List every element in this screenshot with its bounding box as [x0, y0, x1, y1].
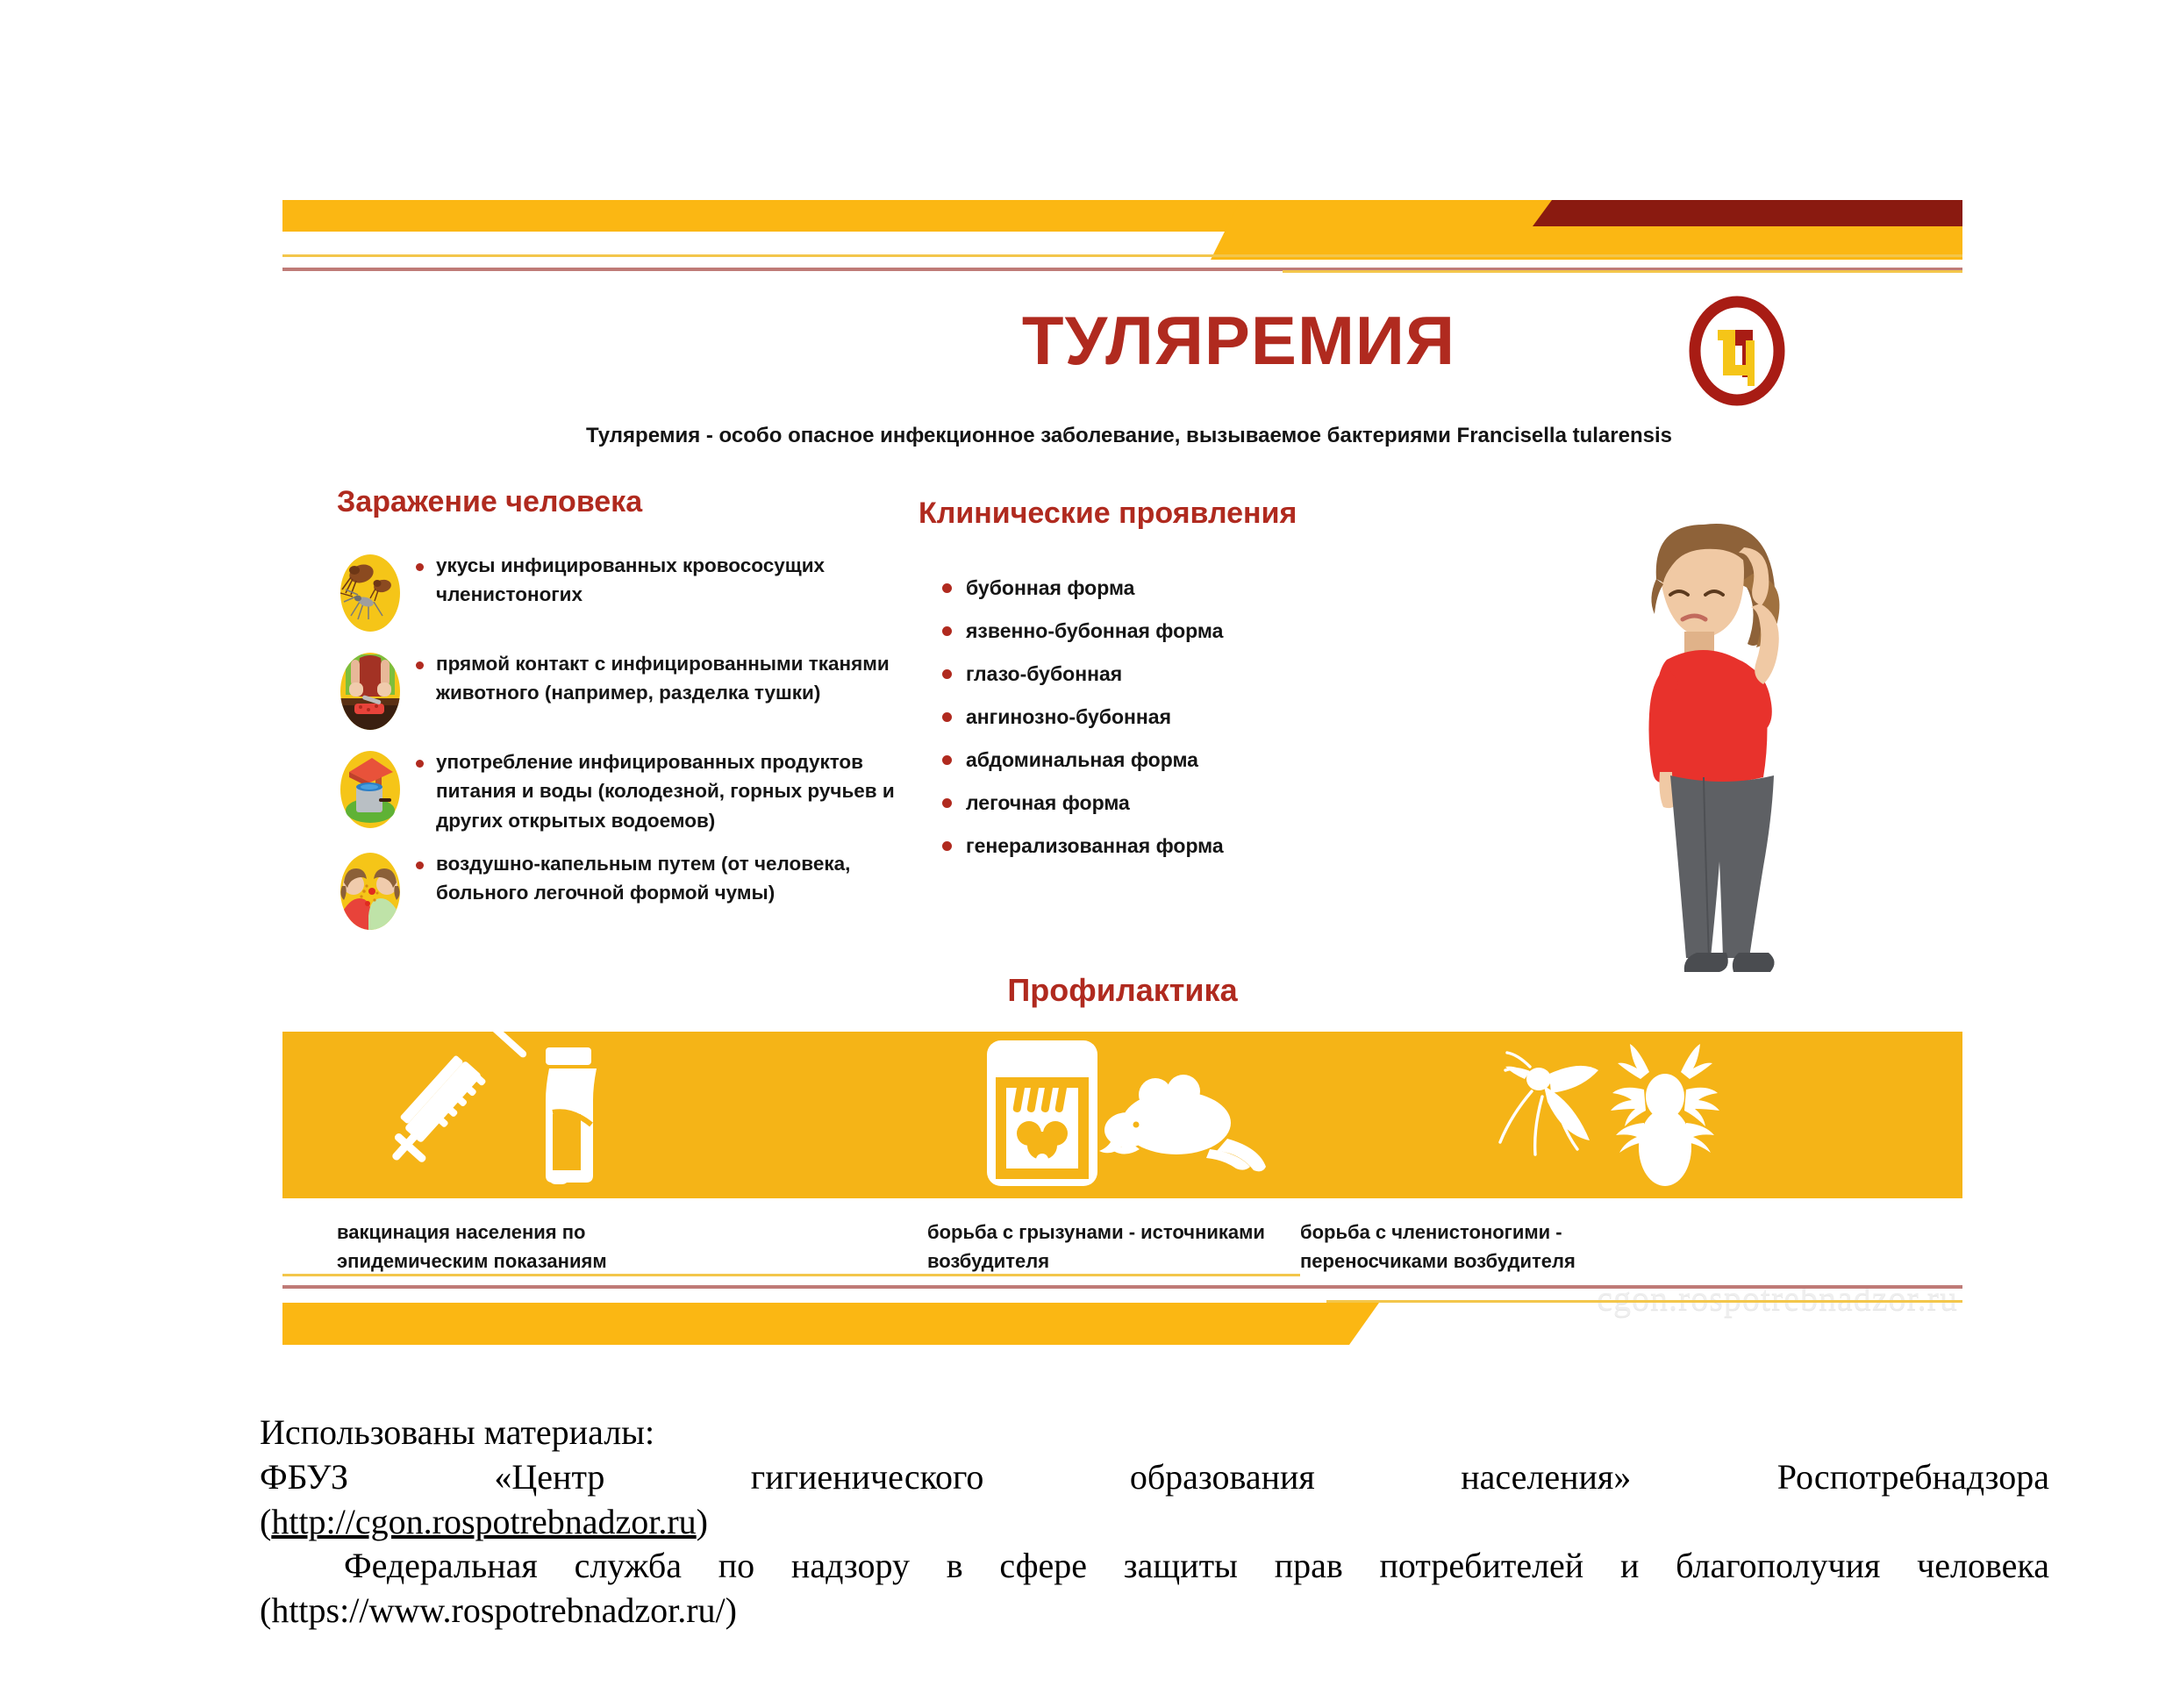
- list-item-label: глазо-бубонная: [966, 662, 1122, 686]
- bullet-dot: [942, 798, 952, 808]
- page-title: ТУЛЯРЕМИЯ: [844, 301, 1633, 381]
- mousetrap-rodent-icon: [980, 1032, 1269, 1198]
- credits-word: «Центр: [494, 1455, 604, 1500]
- list-item: употребление инфицированных продуктов пи…: [337, 747, 916, 835]
- bullet-dot: [416, 760, 424, 768]
- bullet-dot: [416, 861, 424, 869]
- list-item: бубонная форма: [942, 567, 1328, 610]
- credits-line-3: (http://cgon.rospotrebnadzor.ru): [260, 1500, 2049, 1545]
- header-thin-line-yellow-2: [1283, 270, 1962, 273]
- mosquito-tick-icon: [1493, 1032, 1756, 1198]
- credits-word: населения»: [1461, 1455, 1631, 1500]
- transmission-heading: Заражение человека: [337, 485, 642, 519]
- list-item-label: бубонная форма: [966, 576, 1134, 600]
- tularemia-poster: ТУЛЯРЕМИЯ Туляремия - особо опасное инфе…: [282, 200, 1962, 1362]
- bullet-dot: [942, 755, 952, 765]
- list-item: генерализованная форма: [942, 825, 1328, 868]
- list-item: абдоминальная форма: [942, 739, 1328, 782]
- footer-thin-line-red: [282, 1285, 1962, 1289]
- list-item-label: абдоминальная форма: [966, 748, 1198, 772]
- clinical-list: бубонная форма язвенно-бубонная форма гл…: [942, 567, 1328, 868]
- credits-line-1: Использованы материалы:: [260, 1411, 2049, 1455]
- header-stripe-darkred: [1533, 200, 1962, 226]
- bullet-dot: [416, 661, 424, 669]
- list-item-label: язвенно-бубонная форма: [966, 619, 1223, 643]
- list-item-label: укусы инфицированных кровососущих членис…: [436, 551, 916, 610]
- bullet-dot: [942, 712, 952, 722]
- list-item: язвенно-бубонная форма: [942, 610, 1328, 653]
- water-well-icon: [337, 747, 404, 832]
- prophylaxis-heading: Профилактика: [282, 972, 1962, 1009]
- prophylaxis-band: [282, 1032, 1962, 1198]
- list-item: прямой контакт с инфицированными тканями…: [337, 649, 916, 733]
- paren-open: (: [260, 1502, 271, 1541]
- footer-thin-line-yellow: [282, 1274, 1300, 1276]
- list-item: укусы инфицированных кровососущих членис…: [337, 551, 916, 635]
- cgon-logo: [1684, 295, 1790, 407]
- prophylaxis-caption: борьба с членистоногими - переносчиками …: [1300, 1218, 1712, 1276]
- list-item: ангинозно-бубонная: [942, 696, 1328, 739]
- butchering-meat-icon: [337, 649, 404, 733]
- bullet-dot: [942, 583, 952, 593]
- header-stripe-yellow-left: [282, 200, 1283, 232]
- list-item: воздушно-капельным путем (от человека, б…: [337, 849, 916, 933]
- transmission-list: укусы инфицированных кровососущих членис…: [337, 551, 916, 947]
- syringe-vaccine-bottle-icon: [379, 1032, 642, 1198]
- list-item: глазо-бубонная: [942, 653, 1328, 696]
- bullet-dot: [942, 626, 952, 636]
- bullet-dot: [416, 563, 424, 571]
- sick-woman-icon: [1572, 498, 1835, 1016]
- credits-word: ФБУЗ: [260, 1455, 348, 1500]
- bullet-dot: [942, 669, 952, 679]
- list-item-label: легочная форма: [966, 791, 1130, 815]
- airborne-people-icon: [337, 849, 404, 933]
- list-item-label: генерализованная форма: [966, 834, 1224, 858]
- clinical-heading: Клинические проявления: [919, 497, 1297, 531]
- list-item-label: употребление инфицированных продуктов пи…: [436, 747, 916, 835]
- prophylaxis-caption: борьба с грызунами - источниками возбуди…: [927, 1218, 1305, 1276]
- paren-close: ): [697, 1502, 708, 1541]
- list-item-label: прямой контакт с инфицированными тканями…: [436, 649, 916, 708]
- footer-thin-line-yellow-2: [1326, 1300, 1962, 1303]
- list-item-label: ангинозно-бубонная: [966, 705, 1171, 729]
- credits-line-4: Федеральная служба по надзору в сфере за…: [260, 1544, 2049, 1633]
- list-item-label: воздушно-капельным путем (от человека, б…: [436, 849, 916, 908]
- flea-mosquito-icon: [337, 551, 404, 635]
- prophylaxis-caption: вакцинация населения по эпидемическим по…: [337, 1218, 723, 1276]
- header-thin-line-yellow: [282, 254, 1962, 257]
- source-credits: Использованы материалы: ФБУЗ «Центр гиги…: [260, 1411, 2049, 1633]
- credits-word: образования: [1130, 1455, 1315, 1500]
- credits-line-2: ФБУЗ «Центр гигиенического образования н…: [260, 1455, 2049, 1500]
- credits-word: Роспотребнадзора: [1777, 1455, 2049, 1500]
- credits-word: гигиенического: [751, 1455, 984, 1500]
- poster-subtitle: Туляремия - особо опасное инфекционное з…: [471, 424, 1787, 448]
- list-item: легочная форма: [942, 782, 1328, 825]
- bullet-dot: [942, 841, 952, 851]
- footer-stripe-yellow: [282, 1303, 1379, 1345]
- cgon-link[interactable]: http://cgon.rospotrebnadzor.ru: [271, 1502, 696, 1541]
